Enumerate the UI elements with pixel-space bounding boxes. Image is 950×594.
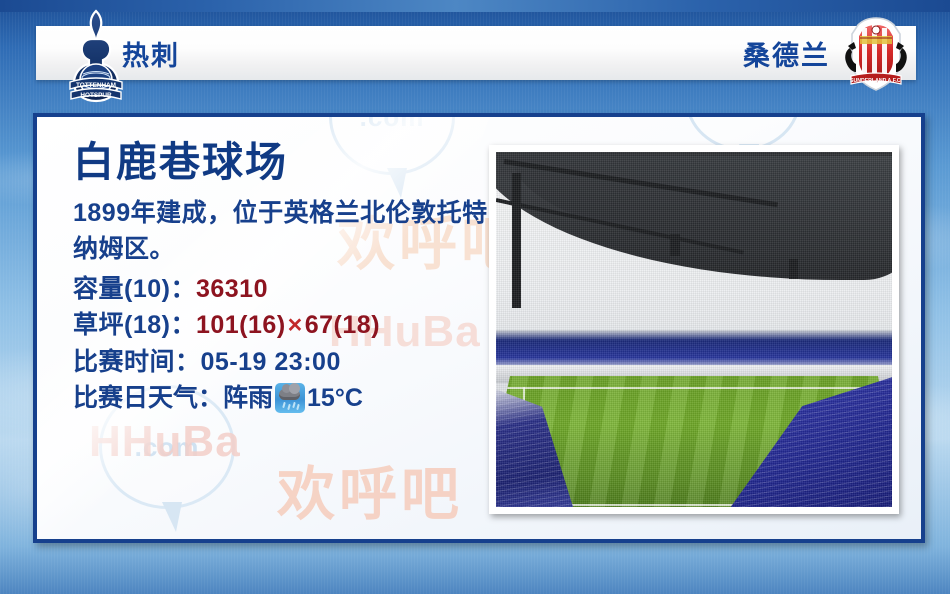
watermark-bubble-lower-text: .com <box>135 432 200 463</box>
watermark-bubble-right-text: .com <box>711 113 776 114</box>
away-crest-label: SUNDERLAND A.F.C. <box>850 78 903 84</box>
match-header-bar: 热刺 桑德兰 <box>36 26 916 80</box>
pitch-separator: × <box>288 311 303 339</box>
match-time-value: 05-19 23:00 <box>201 348 341 376</box>
rain-shower-icon <box>275 383 305 413</box>
pitch-label: 草坪(18)： <box>73 311 196 339</box>
watermark-brand-cn-lower: 欢呼吧 <box>277 447 463 531</box>
watermark-brand-latin-lower: HHuBa <box>89 417 241 467</box>
capacity-label: 容量(10)： <box>73 275 196 303</box>
pitch-row: 草坪(18)：101(16)×67(18) <box>73 307 493 343</box>
stadium-title: 白鹿巷球场 <box>73 141 493 184</box>
stadium-photo <box>496 152 892 507</box>
pitch-width: 67(18) <box>305 311 380 339</box>
stadium-photo-frame <box>489 145 899 514</box>
match-weather-value: 阵雨 <box>223 380 273 416</box>
match-time-label: 比赛时间： <box>73 348 201 376</box>
stadium-description: 1899年建成，位于英格兰北伦敦托特纳姆区。 <box>73 196 493 267</box>
tottenham-hotspur-crest: TOTTENHAM HOTSPUR <box>62 8 130 104</box>
capacity-value: 36310 <box>196 275 268 303</box>
info-panel: .com .com 欢呼吧 HHuBa .com HHuBa 欢呼吧 白鹿巷球场… <box>33 113 925 543</box>
watermark-bubble-text: .com <box>360 113 425 133</box>
capacity-row: 容量(10)：36310 <box>73 271 493 307</box>
stadium-info-card: 热刺 桑德兰 TOTTENHAM HOTSPUR <box>0 0 950 594</box>
home-team-name: 热刺 <box>122 34 180 73</box>
match-time-row: 比赛时间：05-19 23:00 <box>73 344 493 380</box>
pitch-length: 101(16) <box>196 311 286 339</box>
match-temperature: 15°C <box>307 380 363 416</box>
home-crest-label-bottom: HOTSPUR <box>80 92 112 99</box>
stadium-info-content: 白鹿巷球场 1899年建成，位于英格兰北伦敦托特纳姆区。 容量(10)：3631… <box>73 141 493 416</box>
match-weather-label: 比赛日天气： <box>73 380 223 416</box>
top-strip <box>0 0 950 12</box>
away-team-name: 桑德兰 <box>743 34 830 73</box>
sunderland-afc-crest: SUNDERLAND A.F.C. <box>838 14 914 94</box>
match-weather-row: 比赛日天气：阵雨 15°C <box>73 380 493 416</box>
